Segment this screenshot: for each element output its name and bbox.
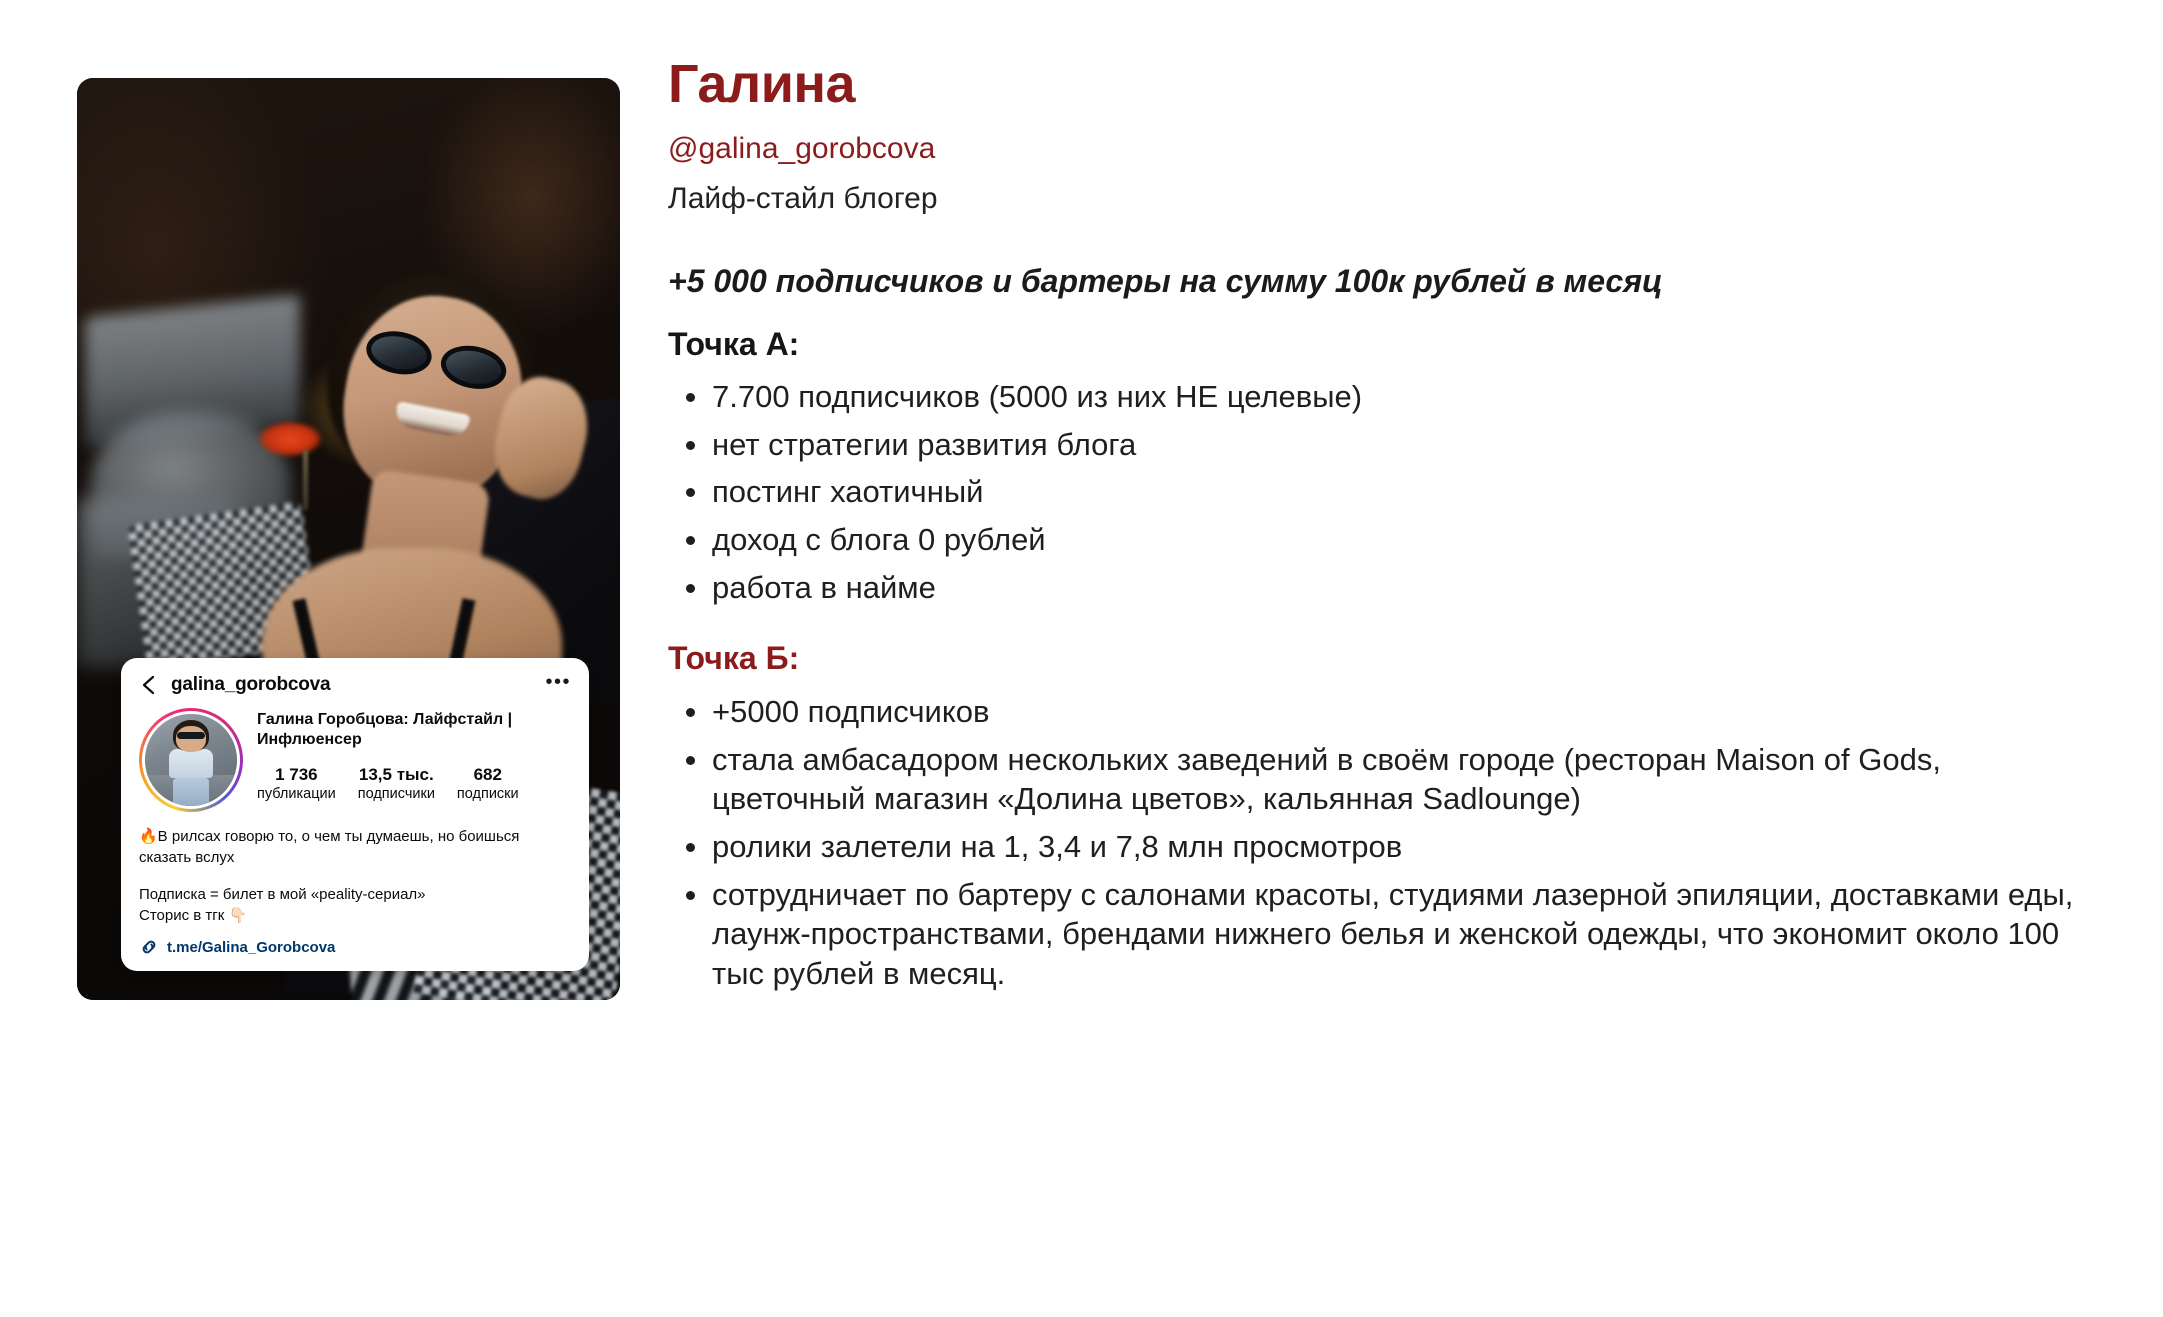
stat-followers-label: подписчики <box>358 785 435 805</box>
photo-red-flower <box>259 422 321 456</box>
instagram-bio-line-2: Подписка = билет в мой «peality-сериал» <box>139 884 571 905</box>
point-a-heading: Точка А: <box>668 325 2088 363</box>
page-title: Галина <box>668 56 2088 113</box>
instagram-bio-line-3: Сторис в тгк 👇🏻 <box>139 905 571 926</box>
list-item: +5000 подписчиков <box>668 692 2088 732</box>
list-item: ролики залетели на 1, 3,4 и 7,8 млн прос… <box>668 827 2088 867</box>
instagram-bio-line-1: 🔥В рилсах говорю то, о чем ты думаешь, н… <box>139 826 571 869</box>
stat-following-label: подписки <box>457 785 519 805</box>
stat-following-value: 682 <box>457 765 519 785</box>
bio-spacer <box>139 869 571 884</box>
point-a-list: 7.700 подписчиков (5000 из них НЕ целевы… <box>668 377 2088 607</box>
instagram-profile-meta: Галина Горобцова: Лайфстайл | Инфлюенсер… <box>257 708 571 805</box>
list-item: 7.700 подписчиков (5000 из них НЕ целевы… <box>668 377 2088 417</box>
stat-followers[interactable]: 13,5 тыс. подписчики <box>358 765 435 805</box>
instagram-profile-card: galina_gorobcova ••• Галин <box>121 658 589 971</box>
instagram-bio: 🔥В рилсах говорю то, о чем ты думаешь, н… <box>139 826 571 926</box>
list-item: работа в найме <box>668 568 2088 608</box>
point-b-list: +5000 подписчиков стала амбасадором неск… <box>668 692 2088 994</box>
instagram-bio-link[interactable]: t.me/Galina_Gorobcova <box>139 937 571 957</box>
avatar-image <box>142 711 240 809</box>
profile-role: Лайф-стайл блогер <box>668 181 2088 217</box>
portrait-photo: galina_gorobcova ••• Галин <box>77 78 620 1000</box>
result-summary: +5 000 подписчиков и бартеры на сумму 10… <box>668 261 2088 301</box>
instagram-display-name: Галина Горобцова: Лайфстайл | Инфлюенсер <box>257 710 571 751</box>
content-column: Галина @galina_gorobcova Лайф-стайл блог… <box>668 56 2088 1002</box>
profile-handle: @galina_gorobcova <box>668 131 2088 167</box>
stat-posts[interactable]: 1 736 публикации <box>257 765 336 805</box>
stat-followers-value: 13,5 тыс. <box>358 765 435 785</box>
instagram-card-header: galina_gorobcova ••• <box>139 674 571 696</box>
list-item: нет стратегии развития блога <box>668 425 2088 465</box>
stat-following[interactable]: 682 подписки <box>457 765 519 805</box>
photo-flower-stem <box>303 450 308 510</box>
point-b-heading: Точка Б: <box>668 639 2088 677</box>
instagram-link-text: t.me/Galina_Gorobcova <box>167 939 335 956</box>
slide-root: galina_gorobcova ••• Галин <box>0 0 2163 1317</box>
link-chain-icon <box>139 937 159 957</box>
avatar[interactable] <box>139 708 243 812</box>
list-item: доход с блога 0 рублей <box>668 520 2088 560</box>
list-item: стала амбасадором нескольких заведений в… <box>668 740 2088 819</box>
stat-posts-value: 1 736 <box>257 765 336 785</box>
stat-posts-label: публикации <box>257 785 336 805</box>
list-item: постинг хаотичный <box>668 472 2088 512</box>
instagram-stats-row: 1 736 публикации 13,5 тыс. подписчики 68… <box>257 765 571 805</box>
instagram-profile-row: Галина Горобцова: Лайфстайл | Инфлюенсер… <box>139 708 571 812</box>
chevron-left-icon[interactable] <box>139 675 159 695</box>
list-item: сотрудничает по бартеру с салонами красо… <box>668 875 2088 994</box>
instagram-username: galina_gorobcova <box>171 674 533 696</box>
more-options-icon[interactable]: ••• <box>545 677 571 693</box>
